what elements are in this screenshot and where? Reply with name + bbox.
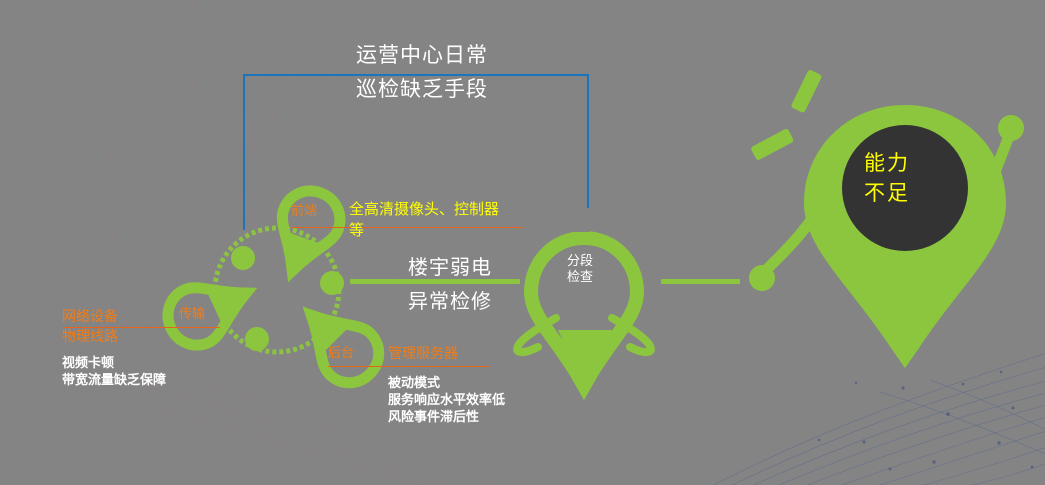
diagram-graphics xyxy=(0,0,1045,485)
annotation-transmission-heading: 网络设备 物理线路 xyxy=(62,307,166,347)
annotation-backend-heading: 管理服务器 xyxy=(388,344,505,364)
pin-capability xyxy=(804,105,1006,368)
capability-sparkles xyxy=(750,69,822,161)
slide-canvas: 运营中心日常 巡检缺乏手段 楼宇弱电 异常检修 前端 传输 后台 分段 检查 能… xyxy=(0,0,1045,485)
header-line-1: 运营中心日常 xyxy=(356,42,488,68)
annotation-transmission: 网络设备 物理线路 视频卡顿 带宽流量缺乏保障 xyxy=(62,307,166,389)
annotation-front-heading: 全高清摄像头、控制器 等 xyxy=(349,199,539,241)
bracket-mask xyxy=(560,208,590,232)
pin-label-segment-check: 分段 检查 xyxy=(567,254,593,286)
pin-label-capability: 能力 不足 xyxy=(864,148,910,208)
pin-label-front: 前端 xyxy=(291,200,317,219)
annotation-front: 全高清摄像头、控制器 等 xyxy=(349,199,539,241)
annotation-transmission-body: 视频卡顿 带宽流量缺乏保障 xyxy=(62,355,166,389)
header-line-2: 巡检缺乏手段 xyxy=(356,76,488,102)
connector-bar-right xyxy=(661,279,740,284)
center-callout-line-2: 异常检修 xyxy=(408,285,492,314)
pin-label-transmission: 传输 xyxy=(179,303,205,322)
annotation-backend-body: 被动模式 服务响应水平效率低 风险事件滞后性 xyxy=(388,375,505,426)
center-callout-line-1: 楼宇弱电 xyxy=(408,251,492,280)
pin-label-backend: 后台 xyxy=(328,342,354,361)
annotation-backend: 管理服务器 被动模式 服务响应水平效率低 风险事件滞后性 xyxy=(388,344,505,426)
